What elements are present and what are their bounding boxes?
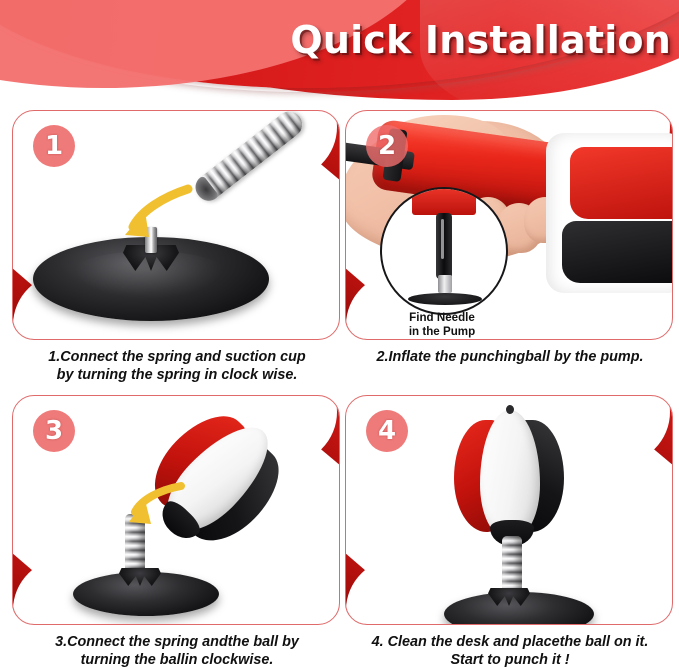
inset-label-line-2: in the Pump [346,325,538,339]
assembled-punching-ball [454,410,566,550]
needle-inset-label: Find Needle in the Pump [346,311,538,339]
caption-line-1: 4. Clean the desk and placethe ball on i… [345,633,675,651]
needle-closeup-inset [380,187,508,315]
step-1-caption: 1.Connect the spring and suction cup by … [12,348,342,384]
caption-line-1: 2.Inflate the punchingball by the pump. [345,348,675,366]
needle-base [408,293,482,305]
step-number-badge: 4 [366,410,408,452]
caption-line-1: 1.Connect the spring and suction cup [12,348,342,366]
caption-line-1: 3.Connect the spring andthe ball by [12,633,342,651]
step-number-badge: 2 [366,125,408,167]
header-banner: Quick Installation [0,0,679,108]
steps-grid: 1 1.Connect the spring and suction cup b… [0,108,679,669]
step-number-badge: 3 [33,410,75,452]
caption-line-2: by turning the spring in clock wise. [12,366,342,384]
step-3-caption: 3.Connect the spring andthe ball by turn… [12,633,342,669]
needle-shaft [436,213,452,279]
step-2: Find Needle in the Pump 2 2.Inflate the … [345,110,675,366]
step-3: 3 3.Connect the spring andthe ball by tu… [12,395,342,669]
suction-cup-part [73,572,219,616]
step-4-caption: 4. Clean the desk and placethe ball on i… [345,633,675,669]
step-4-card: 4 [345,395,673,625]
punching-ball-part [126,395,304,571]
step-4: 4 4. Clean the desk and placethe ball on… [345,395,675,669]
needle-highlight [441,219,444,259]
punching-ball-part [546,133,673,293]
pump-base-cap [412,187,476,215]
step-1: 1 1.Connect the spring and suction cup b… [12,110,342,384]
page-title: Quick Installation [290,18,671,62]
step-3-card: 3 [12,395,340,625]
inset-label-line-1: Find Needle [346,311,538,325]
step-2-caption: 2.Inflate the punchingball by the pump. [345,348,675,366]
needle-tip [438,275,452,293]
caption-line-2: Start to punch it ! [345,651,675,669]
caption-line-2: turning the ballin clockwise. [12,651,342,669]
step-number-badge: 1 [33,125,75,167]
step-1-card: 1 [12,110,340,340]
suction-cup-post [145,227,157,253]
spring-part [191,110,308,206]
step-2-card: Find Needle in the Pump 2 [345,110,673,340]
